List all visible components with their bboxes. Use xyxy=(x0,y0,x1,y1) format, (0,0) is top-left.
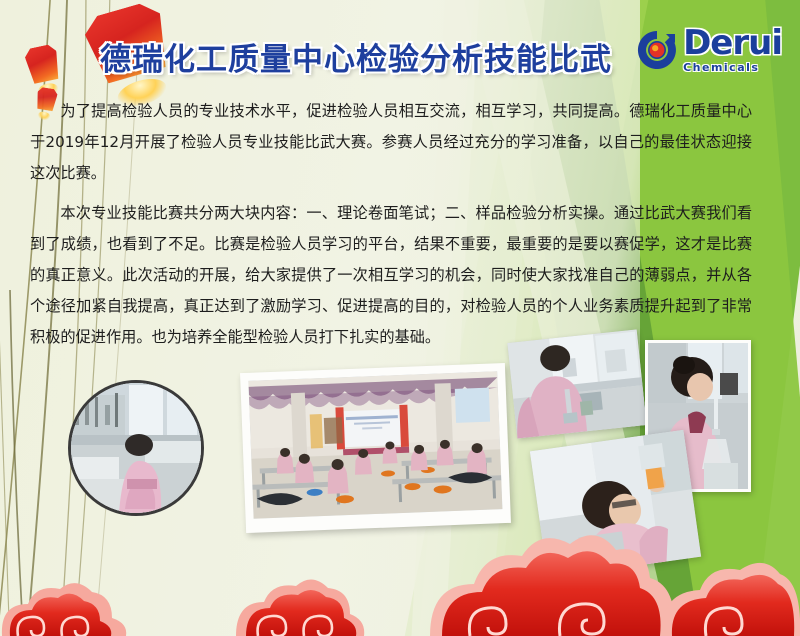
logo-text-block: Derui Chemicals xyxy=(683,26,782,73)
poster-header: 德瑞化工质量中心检验分析技能比武 Derui Chemicals xyxy=(0,0,800,92)
photo-analyst-at-bench xyxy=(507,329,646,438)
article-body: 为了提高检验人员的专业技术水平，促进检验人员相互交流，相互学习，共同提高。德瑞化… xyxy=(30,96,752,362)
logo-subtitle: Chemicals xyxy=(683,62,759,73)
photo-exam-hall-frame xyxy=(240,363,511,533)
logo-wordmark: Derui xyxy=(683,26,782,60)
derui-mark-icon xyxy=(635,28,677,70)
photo-exam-hall xyxy=(248,371,502,518)
page-title: 德瑞化工质量中心检验分析技能比武 xyxy=(100,34,612,79)
brand-logo: Derui Chemicals xyxy=(635,22,782,76)
red-auspicious-clouds-icon xyxy=(0,532,800,636)
photo-lab-analyst-circle xyxy=(68,380,204,516)
poster-canvas: 德瑞化工质量中心检验分析技能比武 Derui Chemicals 为了提高检验人… xyxy=(0,0,800,636)
paragraph-1: 为了提高检验人员的专业技术水平，促进检验人员相互交流，相互学习，共同提高。德瑞化… xyxy=(30,96,752,189)
